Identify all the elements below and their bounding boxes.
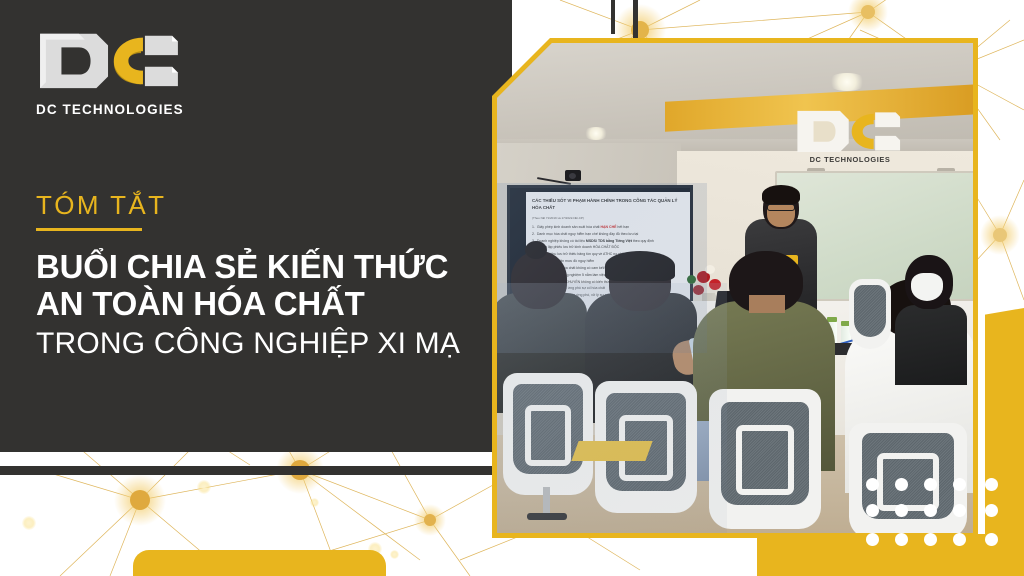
title-line-2: AN TOÀN HÓA CHẤT [36, 285, 488, 323]
attendee-cap [605, 251, 675, 281]
chair-lumbar-cutout [736, 425, 794, 495]
chair-lumbar-cutout [525, 405, 572, 466]
yellow-bottom-accent [757, 534, 1024, 576]
flower [705, 265, 715, 274]
office-chair [503, 373, 593, 495]
slide-bullet: 1. Giấy phép kinh doanh sản xuất hóa chấ… [532, 224, 687, 231]
office-chair [849, 279, 891, 349]
attendee-head [511, 251, 567, 309]
slide-title: CÁC THIẾU SÓT VI PHẠM HÀNH CHÍNH TRONG C… [532, 198, 686, 211]
dc-monogram-logo [793, 99, 903, 161]
title-line-1: BUỔI CHIA SẺ KIẾN THỨC [36, 248, 488, 286]
slide-canvas: DC TECHNOLOGIES TÓM TẮT BUỔI CHIA SẺ KIẾ… [0, 0, 1024, 576]
grid-dot [895, 533, 908, 546]
grid-dot [895, 504, 908, 517]
grid-dot [924, 478, 937, 491]
grid-dot [866, 478, 879, 491]
grid-dot [924, 504, 937, 517]
slide-bullet: 2. Danh mục hóa chất nguy hiểm hạn chế k… [532, 231, 687, 238]
office-chair [709, 389, 821, 529]
glow-fleck [197, 480, 211, 494]
presenter-hair [762, 185, 800, 205]
photo-frame: DC TECHNOLOGIES CÁC THIẾU SÓT VI PHẠM HÀ… [492, 38, 978, 538]
eyebrow-underline [36, 228, 142, 231]
subtitle-line: TRONG CÔNG NGHIỆP XI MẠ [36, 326, 488, 362]
grid-dot [866, 504, 879, 517]
attendee-hair-bun [525, 241, 547, 259]
chair-mesh [854, 285, 887, 337]
grid-dot [953, 504, 966, 517]
eyebrow-label: TÓM TẮT [36, 192, 166, 226]
attendee-face-mask [911, 273, 943, 301]
slide-subtitle: (Theo NĐ 71/2019 và 17/2022-NĐ-CP) [532, 216, 584, 220]
grid-dot [895, 478, 908, 491]
grid-dot [953, 533, 966, 546]
grid-dot [985, 533, 998, 546]
headline-block: TÓM TẮT BUỔI CHIA SẺ KIẾN THỨC AN TOÀN H… [36, 192, 488, 362]
grid-dot [985, 478, 998, 491]
flower [687, 275, 696, 284]
glow-fleck [390, 550, 399, 559]
glow-fleck [22, 516, 36, 530]
dark-tick-mark [633, 0, 638, 44]
training-session-photo: DC TECHNOLOGIES CÁC THIẾU SÓT VI PHẠM HÀ… [497, 43, 973, 533]
attendee-neck [749, 295, 785, 313]
dark-tick-mark [611, 0, 615, 34]
grid-dot [985, 504, 998, 517]
grid-dot [953, 478, 966, 491]
dark-accent-bar [0, 466, 512, 475]
yellow-rounded-accent [133, 550, 386, 576]
ceiling-light [827, 73, 867, 91]
meeting-room-scene: DC TECHNOLOGIES CÁC THIẾU SÓT VI PHẠM HÀ… [497, 43, 973, 533]
wall-logo-text: DC TECHNOLOGIES [791, 155, 909, 164]
yellow-object [571, 441, 652, 461]
dc-monogram-logo [36, 26, 182, 92]
brand-name: DC TECHNOLOGIES [36, 102, 184, 117]
attendee-torso [895, 305, 967, 385]
slide-bullet: 3. Doanh nghiệp không có tài liệu MSDS/ … [532, 238, 687, 245]
grid-dot [924, 533, 937, 546]
grid-dot [866, 533, 879, 546]
ceiling-light [583, 127, 609, 140]
chair-base [527, 513, 567, 520]
slide-bullet: 4. Không lập phiếu lưu trữ kinh doanh HÓ… [532, 244, 687, 251]
webcam-lens [569, 173, 576, 179]
office-chair [849, 423, 967, 533]
glow-fleck [310, 498, 319, 507]
presenter-glasses [767, 204, 795, 211]
brand-logo: DC TECHNOLOGIES [36, 26, 184, 117]
flower [693, 285, 704, 295]
